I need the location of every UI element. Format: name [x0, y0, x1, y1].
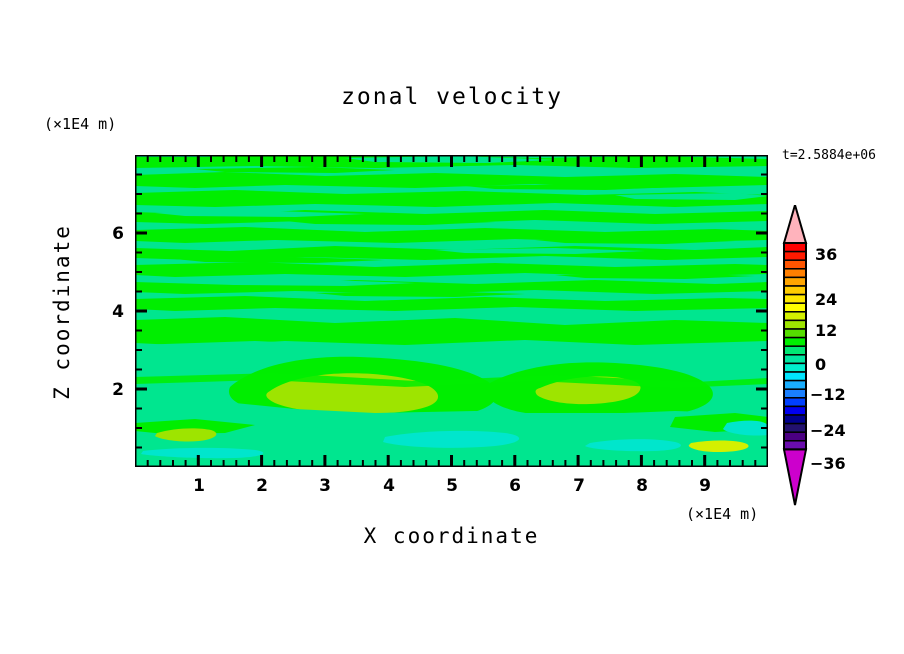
- colorbar-label-12: 12: [815, 321, 837, 340]
- x-tick-label-7: 7: [571, 476, 587, 496]
- colorbar-label-36: 36: [815, 245, 837, 264]
- x-tick-label-4: 4: [381, 476, 397, 496]
- page-title: zonal velocity: [0, 84, 904, 110]
- y-axis-unit-label: (×1E4 m): [44, 115, 116, 133]
- y-axis-title: Z coordinate: [50, 217, 74, 407]
- colorbar-label-0: 0: [815, 355, 826, 374]
- x-tick-label-2: 2: [254, 476, 270, 496]
- colorbar-label-neg24: −24: [810, 421, 846, 440]
- colorbar-label-neg36: −36: [810, 454, 846, 473]
- x-tick-label-5: 5: [444, 476, 460, 496]
- y-tick-label-4: 4: [108, 302, 124, 322]
- time-stamp-annotation: t=2.5884e+06: [782, 148, 876, 163]
- x-tick-label-8: 8: [634, 476, 650, 496]
- x-tick-label-3: 3: [317, 476, 333, 496]
- x-axis-unit-label: (×1E4 m): [686, 505, 758, 523]
- contour-field: [135, 155, 768, 467]
- y-tick-label-2: 2: [108, 380, 124, 400]
- colorbar-bands: [784, 243, 806, 449]
- x-tick-label-9: 9: [697, 476, 713, 496]
- colorbar-label-neg12: −12: [810, 385, 846, 404]
- colorbar-under-arrow: [784, 449, 806, 505]
- contour-plot-area: [135, 155, 768, 467]
- colorbar-over-arrow: [784, 205, 806, 243]
- colorbar-label-24: 24: [815, 290, 837, 309]
- x-tick-label-1: 1: [191, 476, 207, 496]
- x-axis-title: X coordinate: [135, 524, 768, 548]
- y-tick-label-6: 6: [108, 224, 124, 244]
- x-tick-label-6: 6: [507, 476, 523, 496]
